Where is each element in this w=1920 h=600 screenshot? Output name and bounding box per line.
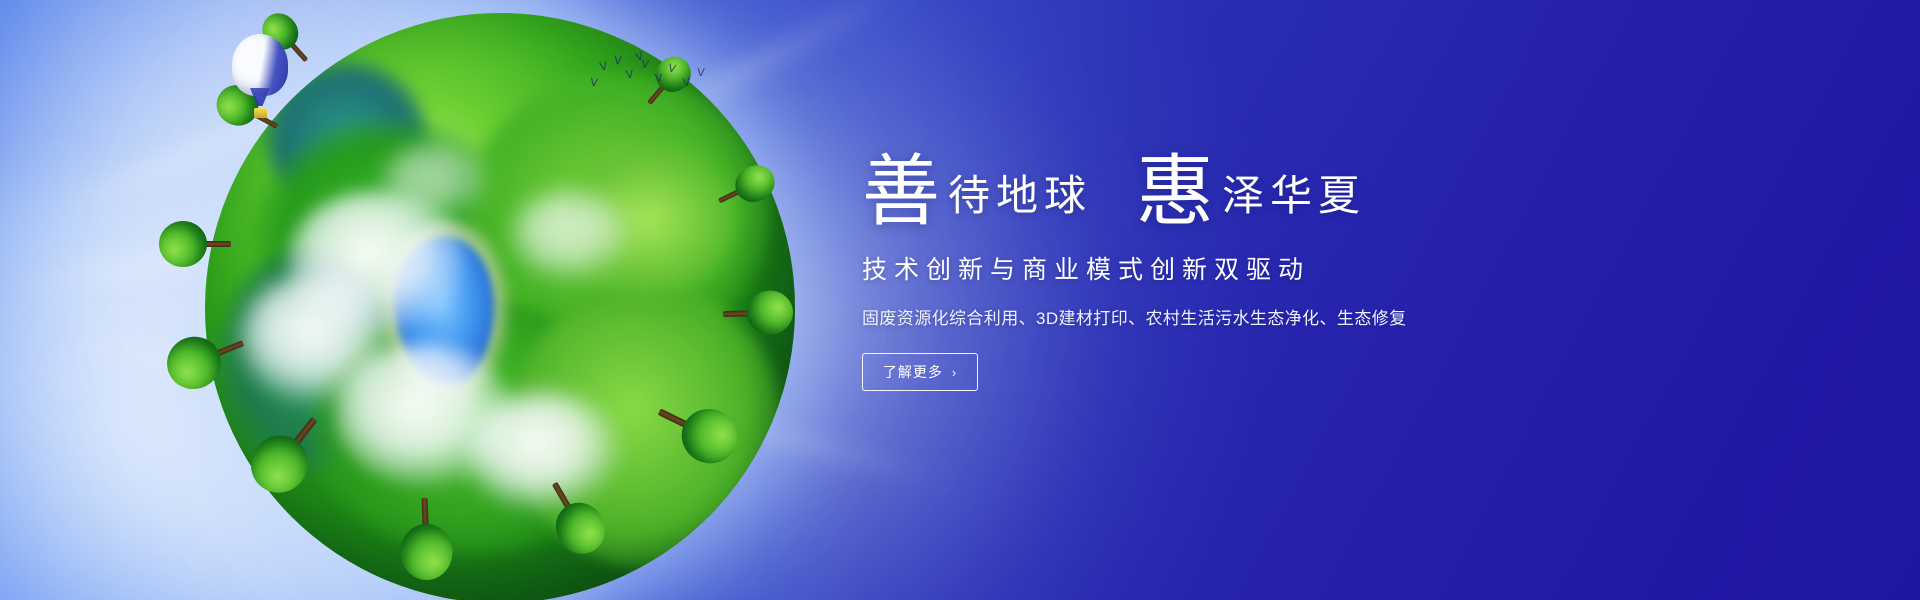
banner-copy: 善 待地球 惠 泽华夏 技术创新与商业模式创新双驱动 固废资源化综合利用、3D建… [862,132,1502,391]
tree-canopy [399,523,453,581]
learn-more-label: 了解更多 [883,362,943,382]
headline-text-2: 泽华夏 [1222,176,1366,228]
rim-tree [722,290,793,336]
tree-trunk [580,0,596,68]
rim-tree [399,497,454,581]
headline-char-primary-1: 善 [862,156,940,228]
bird-icon: ᐯ [599,61,609,73]
banner-subtitle: 技术创新与商业模式创新双驱动 [862,250,1502,286]
headline-text-1: 待地球 [948,176,1092,228]
bird-icon: ᐯ [697,68,705,79]
hero-banner: ᐯ ᐯ ᐯ ᐯ ᐯ ᐯ ᐯ ᐯ ᐯ ᐯ 善 待地球 惠 泽华夏 技术创新与商业模… [0,0,1920,600]
balloon-envelope [232,34,288,96]
page-title: 善 待地球 惠 泽华夏 [862,132,1502,228]
tree-canopy [159,221,207,267]
learn-more-button[interactable]: 了解更多 › [862,353,978,391]
balloon-skirt [250,88,270,106]
bird-icon: ᐯ [613,56,622,68]
tree-canopy [746,290,794,336]
bird-icon: ᐯ [682,77,691,89]
hot-air-balloon-icon [232,34,288,120]
banner-description: 固废资源化综合利用、3D建材打印、农村生活污水生态净化、生态修复 [862,304,1502,329]
chevron-right-icon: › [952,365,957,380]
balloon-basket [254,108,267,118]
bird-icon: ᐯ [625,70,634,82]
planet-cloud [382,143,488,220]
headline-char-primary-2: 惠 [1136,156,1214,228]
tree-canopy [580,68,770,198]
planet-cloud [512,190,630,279]
bird-icon: ᐯ [589,78,598,90]
bird-icon: ᐯ [655,74,663,85]
rim-tree [159,221,231,267]
